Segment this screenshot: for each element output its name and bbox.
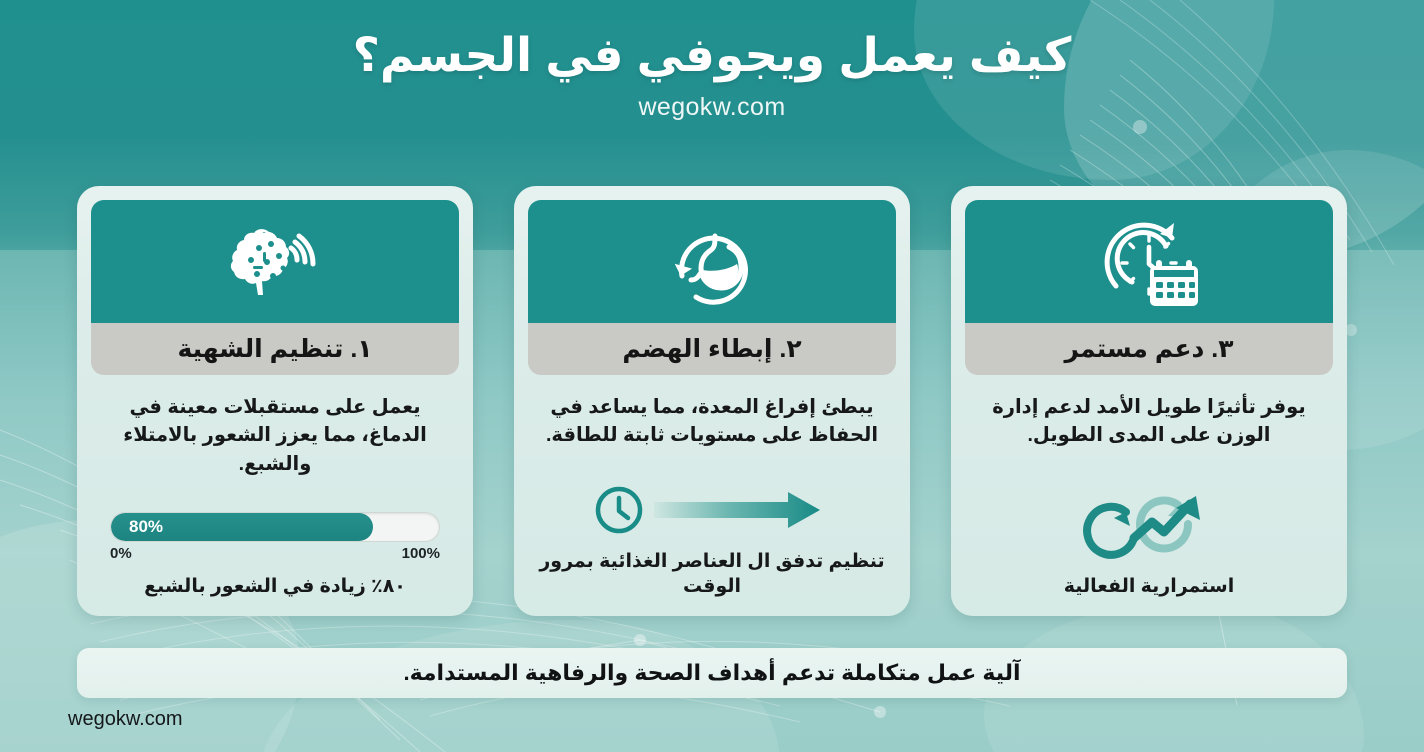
card-icon-band [965,200,1333,323]
cards-row: ١. تنظيم الشهية يعمل على مستقبلات معينة … [77,186,1347,616]
card-visual: تنظيم تدفق ال العناصر الغذائية بمرور الو… [538,483,886,616]
summary-banner: آلية عمل متكاملة تدعم أهداف الصحة والرفا… [77,648,1347,698]
header: كيف يعمل ويجوفي في الجسم؟ wegokw.com [0,26,1424,122]
card-body-text: يبطئ إفراغ المعدة، مما يساعد في الحفاظ ع… [538,393,886,450]
card-title: ١. تنظيم الشهية [177,337,372,362]
loop-trend-arrow-icon [1074,490,1224,562]
progress-value-label: 80% [111,517,163,537]
progress-fill: 80% [111,513,373,541]
card-title: ٣. دعم مستمر [1064,337,1233,362]
header-subtitle: wegokw.com [0,93,1424,122]
infographic-canvas: كيف يعمل ويجوفي في الجسم؟ wegokw.com [0,0,1424,752]
page-title: كيف يعمل ويجوفي في الجسم؟ [0,26,1424,83]
card-title-band: ١. تنظيم الشهية [91,323,459,375]
stomach-cycle-icon [660,214,764,310]
card-appetite-regulation[interactable]: ١. تنظيم الشهية يعمل على مستقبلات معينة … [77,186,473,616]
card-continuous-support[interactable]: ٣. دعم مستمر يوفر تأثيرًا طويل الأمد لدع… [951,186,1347,616]
progress-max-label: 100% [402,545,440,562]
summary-banner-text: آلية عمل متكاملة تدعم أهداف الصحة والرفا… [403,660,1020,686]
card-title-band: ٣. دعم مستمر [965,323,1333,375]
card-visual: 80% 0% 100% ٨٠٪ زيادة في الشعور بالشبع [101,512,449,616]
card-icon-band [528,200,896,323]
card-caption: استمرارية الفعالية [1064,574,1235,600]
brain-signal-icon [223,214,327,310]
card-title-band: ٢. إبطاء الهضم [528,323,896,375]
card-caption: ٨٠٪ زيادة في الشعور بالشبع [144,574,406,600]
card-title: ٢. إبطاء الهضم [622,337,801,362]
card-icon-band [91,200,459,323]
progress-scale: 0% 100% [110,545,440,562]
clock-calendar-icon [1094,214,1204,310]
clock-arrow-icon [592,483,832,537]
progress-min-label: 0% [110,545,132,562]
progress-track: 80% [110,512,440,542]
card-body-text: يوفر تأثيرًا طويل الأمد لدعم إدارة الوزن… [975,393,1323,450]
footer-site: wegokw.com [68,708,183,731]
progress-bar: 80% 0% 100% [110,512,440,562]
card-body-text: يعمل على مستقبلات معينة في الدماغ، مما ي… [101,393,449,478]
card-slowing-digestion[interactable]: ٢. إبطاء الهضم يبطئ إفراغ المعدة، مما يس… [514,186,910,616]
card-caption: تنظيم تدفق ال العناصر الغذائية بمرور الو… [538,549,886,600]
card-visual: استمرارية الفعالية [975,490,1323,616]
